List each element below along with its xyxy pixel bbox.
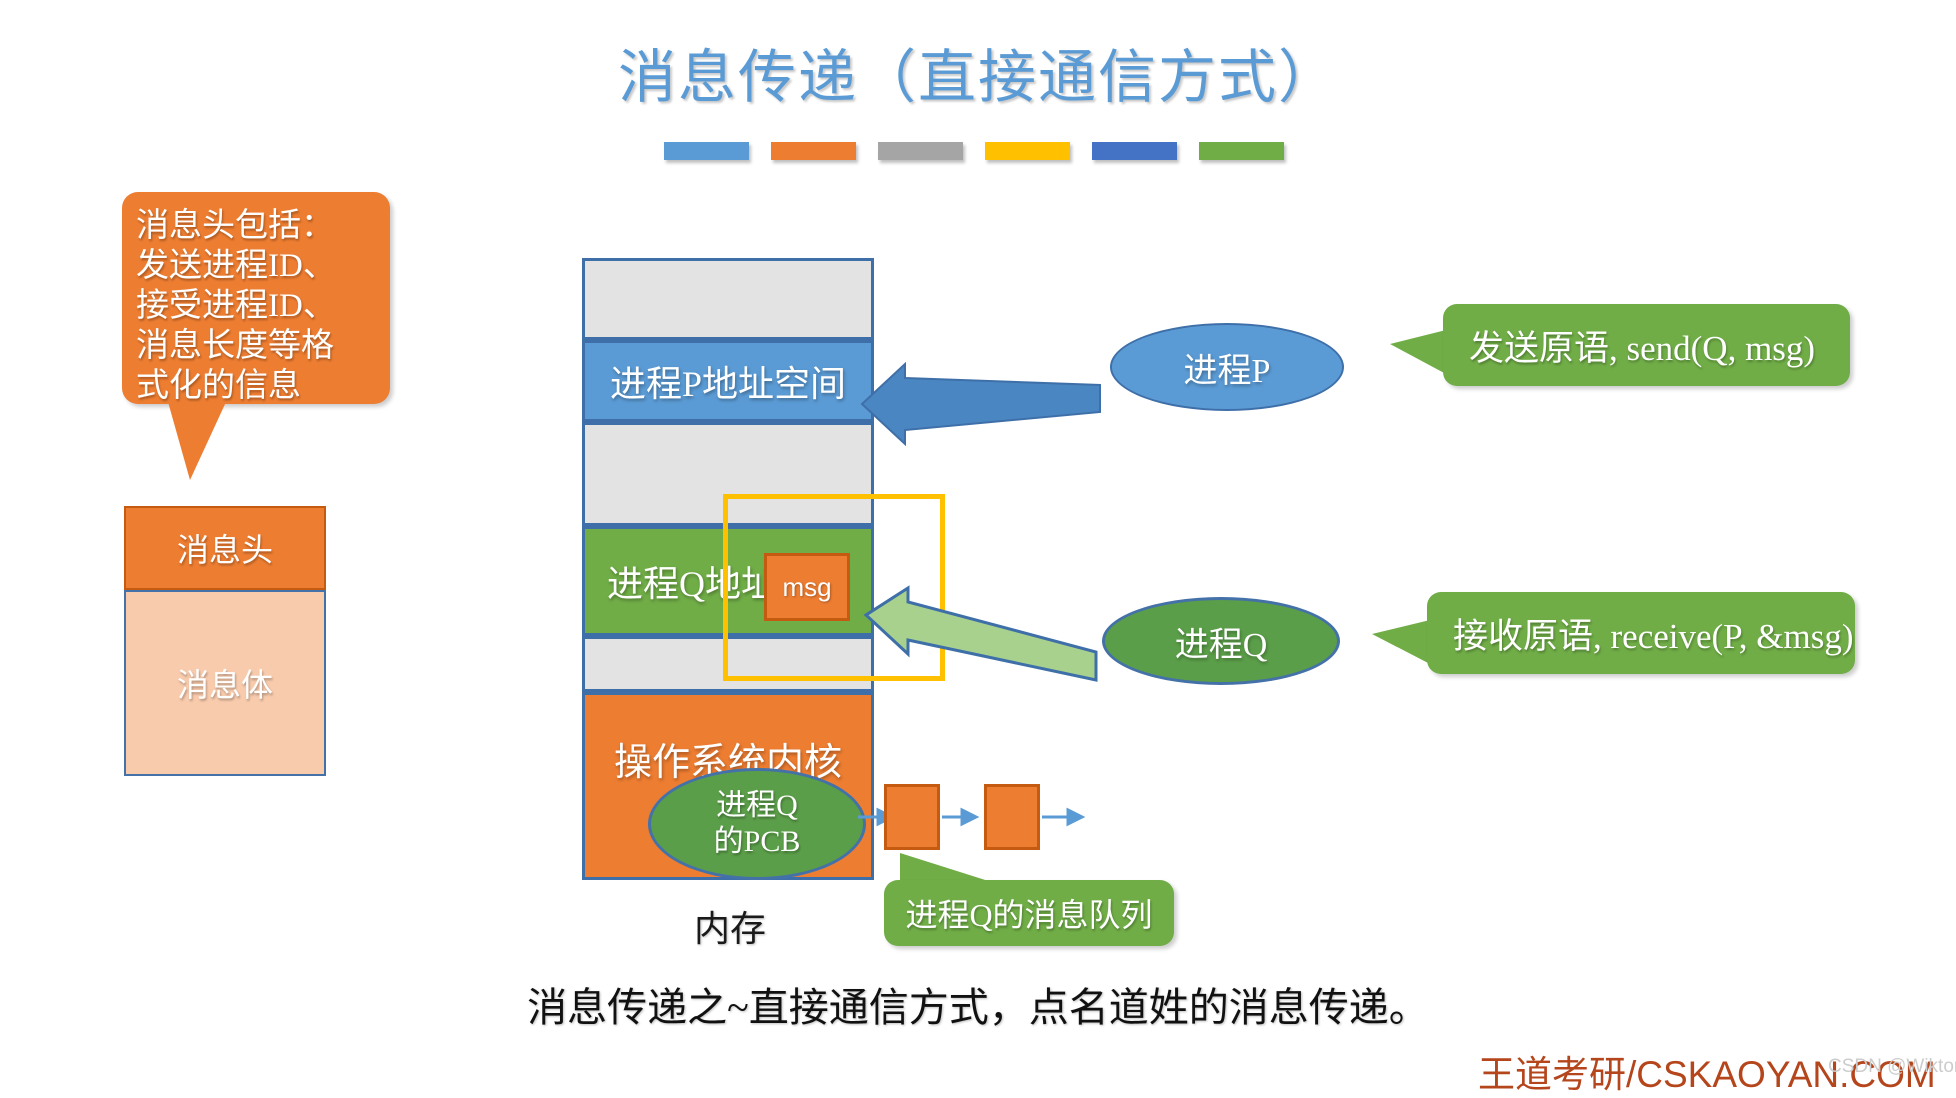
message-queue-box-1: [884, 784, 940, 850]
message-queue-text: 进程Q的消息队列: [905, 890, 1152, 936]
title-bar-3: [878, 142, 963, 160]
callout-line-4: 消息长度等格: [136, 326, 386, 366]
process-q-pcb-ellipse: 进程Q 的PCB: [648, 768, 866, 880]
memory-band-free-1: [582, 258, 874, 340]
callout-line-2: 发送进程ID、: [136, 246, 386, 286]
receive-primitive-text: 接收原语, receive(P, &msg): [1453, 608, 1853, 659]
memory-caption: 内存: [640, 900, 820, 952]
bottom-caption: 消息传递之~直接通信方式，点名道姓的消息传递。: [0, 975, 1956, 1033]
message-header-callout-text: 消息头包括： 发送进程ID、 接受进程ID、 消息长度等格 式化的信息: [136, 206, 386, 406]
title-bar-1: [664, 142, 749, 160]
process-q-ellipse: 进程Q: [1102, 597, 1340, 685]
message-body-label: 消息体: [177, 660, 273, 706]
process-p-label: 进程P: [1184, 343, 1271, 392]
message-queue-box-2: [984, 784, 1040, 850]
message-header-box: 消息头: [124, 506, 326, 590]
pcb-label-line-1: 进程Q: [716, 788, 798, 824]
pcb-label-line-2: 的PCB: [714, 824, 801, 860]
message-header-callout-tail: [168, 402, 226, 480]
title-bar-2: [771, 142, 856, 160]
page-title: 消息传递（直接通信方式）: [0, 30, 1956, 114]
send-primitive-callout: 发送原语, send(Q, msg): [1443, 304, 1850, 386]
callout-line-5: 式化的信息: [136, 366, 386, 406]
title-bar-5: [1092, 142, 1177, 160]
callout-line-1: 消息头包括：: [136, 206, 386, 246]
process-p-ellipse: 进程P: [1110, 323, 1344, 411]
message-body-box: 消息体: [124, 590, 326, 776]
process-q-label: 进程Q: [1175, 617, 1268, 666]
title-color-bars: [664, 142, 1284, 160]
message-header-label: 消息头: [177, 525, 273, 571]
send-callout-tail: [1390, 330, 1446, 374]
title-bar-4: [985, 142, 1070, 160]
memory-band-process-p: 进程P地址空间: [582, 340, 874, 422]
send-arrow-blue: [862, 364, 1100, 444]
receive-primitive-callout: 接收原语, receive(P, &msg): [1427, 592, 1855, 674]
watermark-csdn: CSDN @Wiktoriae: [1828, 1056, 1956, 1078]
message-queue-callout: 进程Q的消息队列: [884, 880, 1174, 946]
send-primitive-text: 发送原语, send(Q, msg): [1469, 320, 1815, 371]
callout-line-3: 接受进程ID、: [136, 286, 386, 326]
title-bar-6: [1199, 142, 1284, 160]
process-p-space-label: 进程P地址空间: [610, 355, 846, 407]
receive-callout-tail: [1372, 620, 1430, 664]
highlight-rectangle: [723, 494, 945, 681]
